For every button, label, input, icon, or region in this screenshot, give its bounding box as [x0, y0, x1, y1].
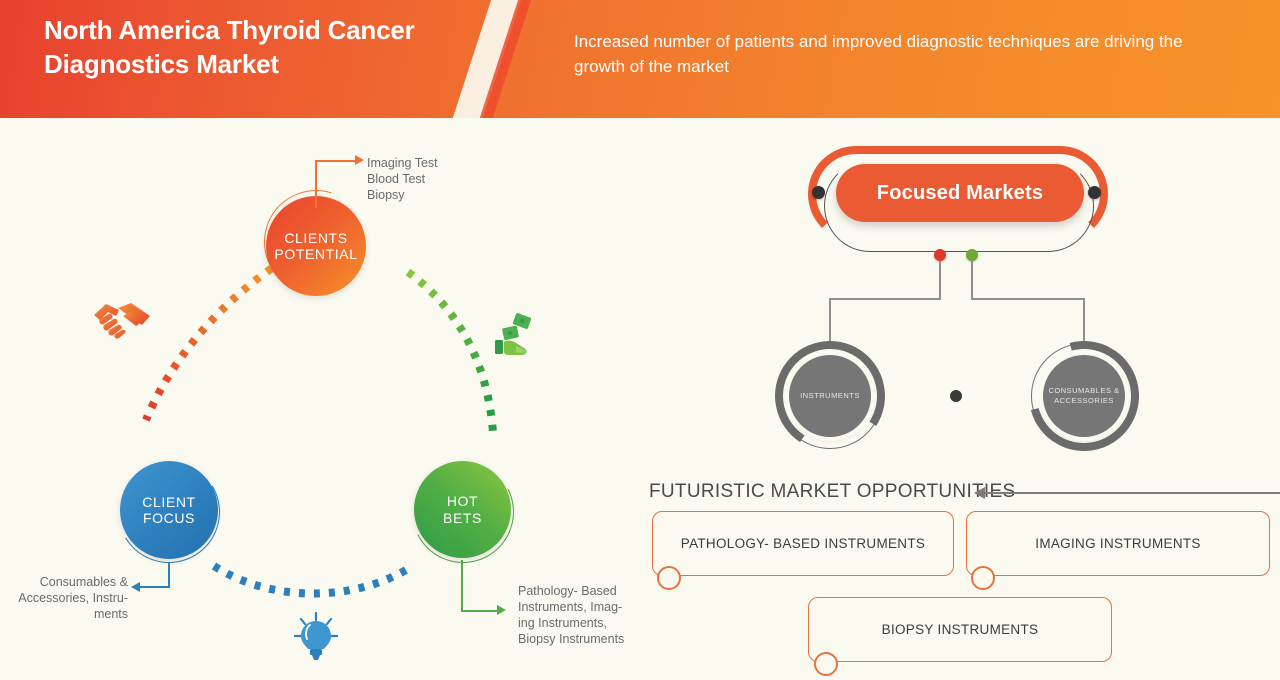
left-branch-vertical-b — [829, 298, 831, 342]
client-focus-connector-vertical — [168, 562, 170, 588]
opportunity-knob-pathology — [657, 566, 681, 590]
right-branch-vertical-b — [1083, 298, 1085, 342]
hot-bets-connector-arrowhead — [497, 605, 506, 615]
focused-markets-right-dot — [1088, 186, 1101, 199]
clients-connector-vertical — [315, 160, 317, 208]
clients-connector-horizontal — [315, 160, 357, 162]
instruments-label: INSTRUMENTS — [800, 391, 860, 401]
clients-potential-note: Imaging Test Blood Test Biopsy — [367, 155, 507, 203]
money-hand-icon — [494, 310, 542, 367]
green-signal-dot — [966, 249, 978, 261]
node-hot-bets[interactable]: HOT BETS — [414, 461, 511, 558]
right-branch-horizontal — [971, 298, 1084, 300]
segment-consumables-accessories[interactable]: CONSUMABLES & ACCESSORIES — [1029, 341, 1139, 451]
left-branch-horizontal — [829, 298, 941, 300]
hot-bets-note: Pathology- Based Instruments, Imag- ing … — [518, 583, 646, 647]
opportunity-label-pathology: PATHOLOGY- BASED INSTRUMENTS — [681, 536, 925, 551]
consumables-label: CONSUMABLES & ACCESSORIES — [1048, 386, 1119, 406]
segment-instruments[interactable]: INSTRUMENTS — [775, 341, 885, 451]
red-signal-dot — [934, 249, 946, 261]
opportunity-label-imaging: IMAGING INSTRUMENTS — [1035, 536, 1200, 551]
node-clients-potential[interactable]: CLIENTS POTENTIAL — [266, 196, 366, 296]
infographic-canvas: North America Thyroid Cancer Diagnostics… — [0, 0, 1280, 680]
futuristic-arrow-line — [984, 492, 1280, 494]
focused-markets-label: Focused Markets — [877, 182, 1043, 205]
futuristic-arrow-head — [974, 487, 985, 499]
page-title: North America Thyroid Cancer Diagnostics… — [44, 14, 514, 82]
header-subtitle: Increased number of patients and improve… — [574, 30, 1224, 79]
opportunity-box-biopsy[interactable]: BIOPSY INSTRUMENTS — [808, 597, 1112, 662]
consumables-core: CONSUMABLES & ACCESSORIES — [1043, 355, 1125, 437]
right-branch-vertical-a — [971, 261, 973, 299]
instruments-core: INSTRUMENTS — [789, 355, 871, 437]
client-focus-label: CLIENT FOCUS — [142, 494, 195, 526]
opportunity-knob-imaging — [971, 566, 995, 590]
client-focus-connector-arrowhead — [131, 582, 140, 592]
opportunity-knob-biopsy — [814, 652, 838, 676]
opportunity-box-imaging[interactable]: IMAGING INSTRUMENTS — [966, 511, 1270, 576]
header-banner: North America Thyroid Cancer Diagnostics… — [0, 0, 1280, 118]
client-focus-connector-horizontal — [140, 586, 170, 588]
lightbulb-icon — [294, 612, 338, 667]
handshake-icon — [92, 295, 154, 346]
futuristic-section-title: FUTURISTIC MARKET OPPORTUNITIES — [649, 481, 1015, 503]
client-focus-note: Consumables & Accessories, Instru- ments — [6, 574, 128, 622]
hot-bets-connector-horizontal — [461, 610, 499, 612]
node-client-focus[interactable]: CLIENT FOCUS — [120, 461, 218, 559]
clients-connector-arrowhead — [355, 155, 364, 165]
focused-markets-left-dot — [812, 186, 825, 199]
hot-bets-connector-vertical — [461, 560, 463, 612]
left-branch-vertical-a — [939, 261, 941, 299]
focused-markets-pill[interactable]: Focused Markets — [836, 164, 1084, 222]
dotted-arc-blue — [210, 558, 410, 603]
clients-potential-label: CLIENTS POTENTIAL — [274, 230, 357, 262]
center-separator-dot — [950, 390, 962, 402]
opportunity-box-pathology[interactable]: PATHOLOGY- BASED INSTRUMENTS — [652, 511, 954, 576]
opportunity-label-biopsy: BIOPSY INSTRUMENTS — [882, 622, 1039, 637]
hot-bets-label: HOT BETS — [443, 493, 482, 525]
